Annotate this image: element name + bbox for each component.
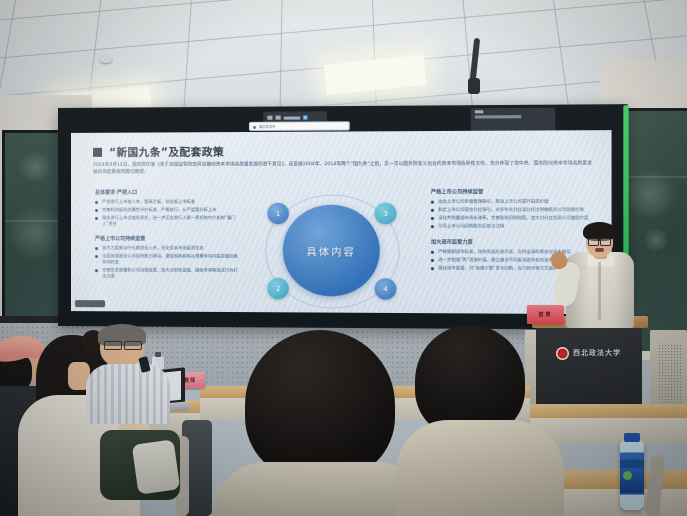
university-seal-icon xyxy=(556,347,569,360)
bullet-square-icon xyxy=(93,148,102,157)
soda-bottle xyxy=(620,440,644,510)
list-item: 全面加强基金公司投研能力建设，督促相关机构从规模导向向投资者回报导向转变 xyxy=(95,254,239,266)
podium xyxy=(536,323,642,411)
student-shoulders xyxy=(396,420,564,516)
slide-circle-diagram: 具体内容 1 2 3 4 xyxy=(255,190,408,311)
projection-screen[interactable]: 演示共享中 “新国九条”及配套政策 2024年4月12日，国务院印发《关于加强监… xyxy=(58,104,628,330)
podium-nameplate: 首席 xyxy=(527,305,564,324)
list-item: 严把发行上市准入关，提高主板、创业板上市标准 xyxy=(95,199,239,205)
projector-mount xyxy=(468,78,480,94)
list-item: 深化并购重组市场化改革，完善股份回购制度，加大对分红优质公司激励力度 xyxy=(431,215,602,221)
list-item: 加大力度推动中长期资金入市，优化资本市场投资生态 xyxy=(95,245,239,251)
desk-nameplate-text: 教师 xyxy=(184,377,196,384)
slide-canvas: “新国九条”及配套政策 2024年4月12日，国务院印发《关于加强监管防范风险推… xyxy=(71,130,612,314)
list-item: 制定上市公司现金分红指引，对多年未分红或分红比例偏低的公司加强约束 xyxy=(431,207,602,213)
screen-share-note-text: 演示共享中 xyxy=(259,125,275,129)
slide-lead-paragraph: 2024年4月12日，国务院印发《关于加强监管防范风险推动资本市场高质量发展的若… xyxy=(93,160,597,176)
meeting-control-panel[interactable] xyxy=(471,108,555,132)
diagram-node-2: 2 xyxy=(267,278,289,299)
glasses-icon xyxy=(104,341,142,348)
taskbar-chip[interactable] xyxy=(75,300,105,307)
student-striped-torso xyxy=(86,364,170,424)
smoke-detector-icon xyxy=(100,56,112,63)
lecturer-mouth xyxy=(595,248,604,252)
diagram-node-4: 4 xyxy=(375,278,397,300)
diagram-core: 具体内容 xyxy=(283,205,380,297)
list-item: 完善科创板科创属性评价标准，严格执行，从严监管分拆上市 xyxy=(95,207,239,213)
slide-heading-right-2: 加大退市监管力度 xyxy=(431,238,602,245)
slide-bullets-left-1: 严把发行上市准入关，提高主板、创业板上市标准 完善科创板科创属性评价标准，严格执… xyxy=(95,199,239,227)
slide-title: “新国九条”及配套政策 xyxy=(109,144,224,160)
list-item: 出台上市公司市值管理指引，推动上市公司提升投资价值 xyxy=(431,198,602,204)
tote-bag xyxy=(132,439,181,494)
slide-title-row: “新国九条”及配套政策 xyxy=(93,144,224,160)
bottle-cap-icon xyxy=(155,352,161,357)
status-dot-icon xyxy=(253,126,256,129)
student-head-hair xyxy=(245,330,395,480)
bottle-label-accent xyxy=(623,471,632,480)
slide-heading-right-1: 严格上市公司持续监管 xyxy=(431,188,602,195)
diagram-center-label: 具体内容 xyxy=(306,243,356,258)
diagram-node-1: 1 xyxy=(267,203,289,224)
classroom-photo: 演示共享中 “新国九条”及配套政策 2024年4月12日，国务院印发《关于加强监… xyxy=(0,0,687,516)
institution-name: 西北政法大学 xyxy=(573,348,621,358)
list-item: 强化发行上市全链条责任，进一步压实发行人第一责任和中介机构“看门人”责任 xyxy=(95,215,239,226)
list-item: 完善信息披露和公司治理监管，加大对财务造假、操纵市场等违法行为打击力度 xyxy=(95,267,239,279)
list-item: 引导上市公司回购股份后依法注销 xyxy=(431,223,602,229)
slide-heading-left-1: 总体要求·严把入口 xyxy=(95,189,239,196)
podium-institution-plate: 西北政法大学 xyxy=(556,344,644,362)
lecturer-shirt-placket xyxy=(598,262,601,320)
slide-bullets-left-2: 加大力度推动中长期资金入市，优化资本市场投资生态 全面加强基金公司投研能力建设，… xyxy=(95,245,239,279)
slide-bullets-right-1: 出台上市公司市值管理指引，推动上市公司提升投资价值 制定上市公司现金分红指引，对… xyxy=(431,198,602,229)
slide-column-left: 总体要求·严把入口 严把发行上市准入关，提高主板、创业板上市标准 完善科创板科创… xyxy=(95,189,239,288)
glasses-icon xyxy=(588,238,611,244)
bottle-cap-icon xyxy=(624,433,640,442)
nameplate-text: 首席 xyxy=(538,311,552,318)
desk-right-1 xyxy=(530,404,687,419)
screen-share-note: 演示共享中 xyxy=(249,121,350,131)
slide-heading-left-2: 严格上市公司持续监管 xyxy=(95,235,239,242)
diagram-node-3: 3 xyxy=(375,203,397,224)
